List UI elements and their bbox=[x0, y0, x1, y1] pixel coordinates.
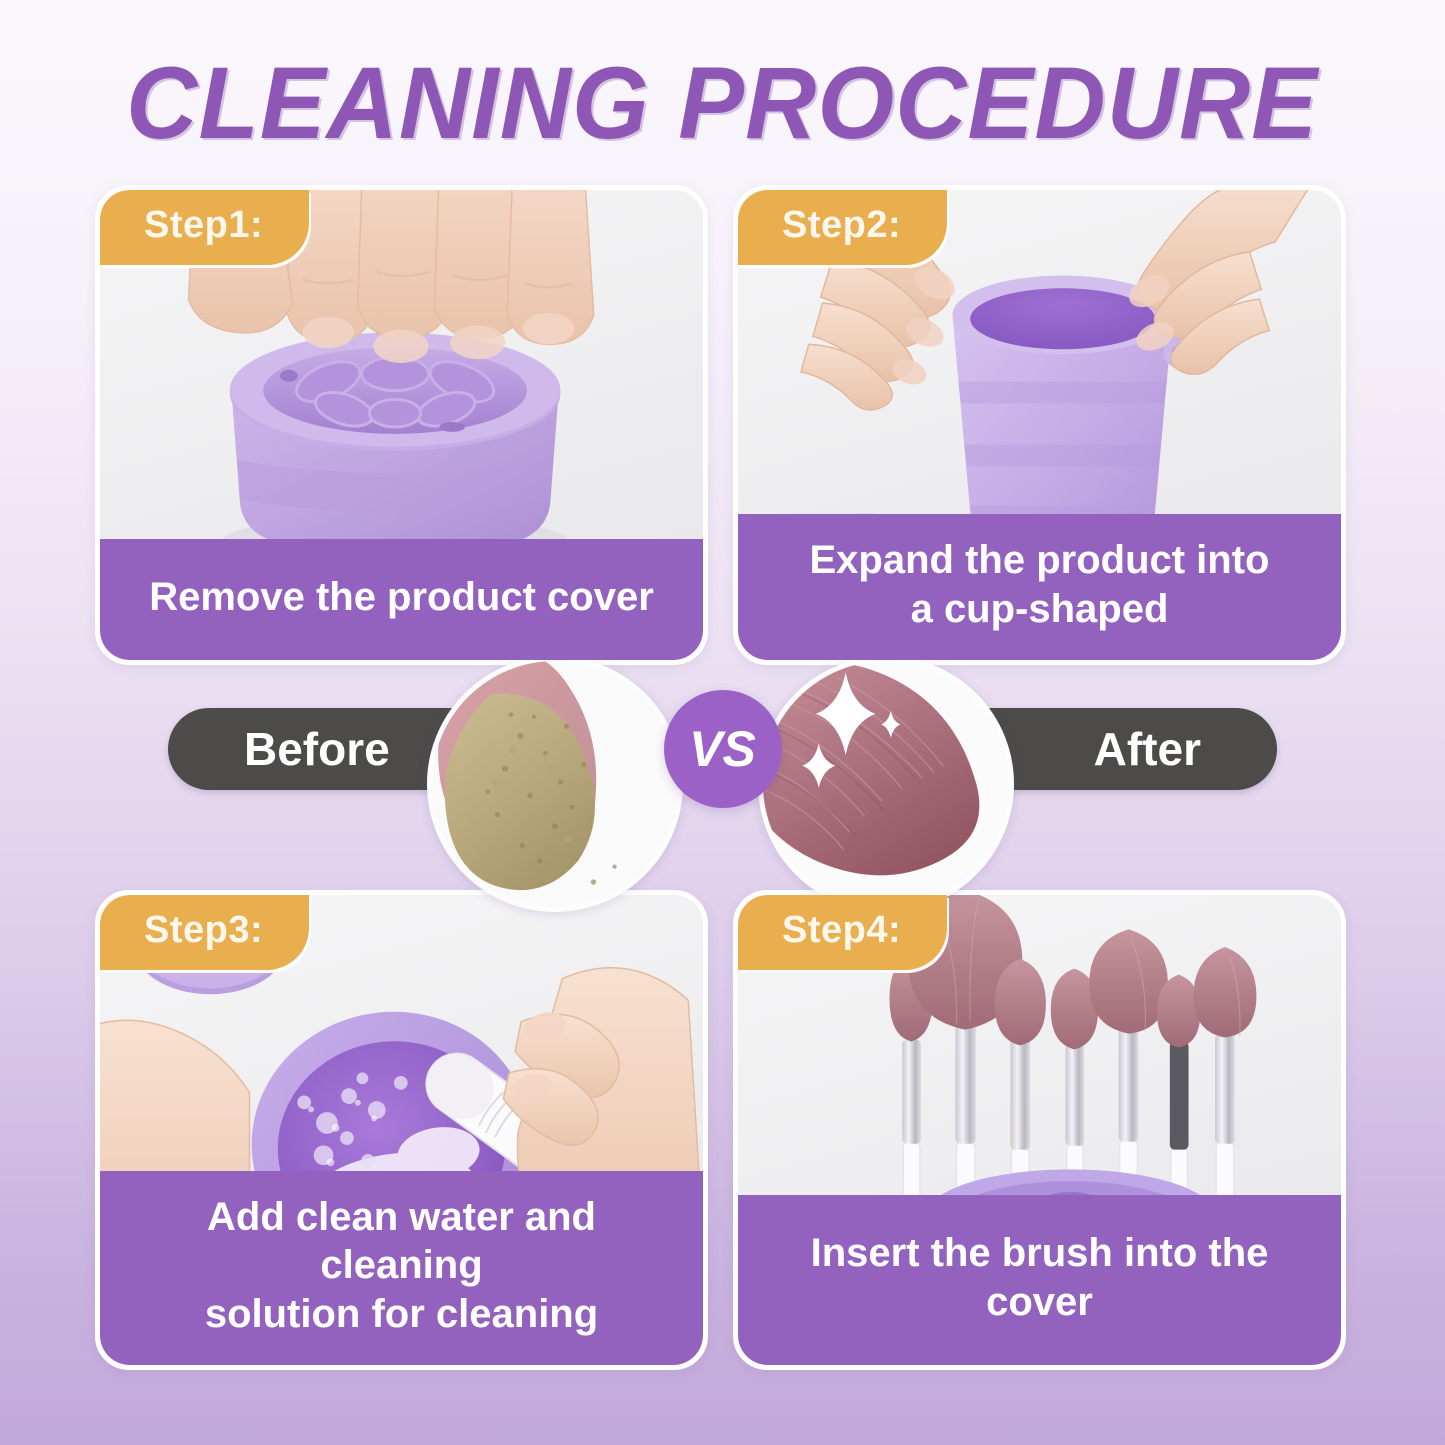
vs-label: VS bbox=[689, 720, 756, 778]
page-title: CLEANING PROCEDURE bbox=[126, 44, 1318, 162]
before-brush-image bbox=[427, 656, 683, 912]
step-1-caption: Remove the product cover bbox=[100, 539, 703, 660]
step-2-caption-line-1: Expand the product into bbox=[760, 536, 1319, 585]
page-header: CLEANING PROCEDURE bbox=[0, 52, 1445, 154]
step-3-caption: Add clean water and cleaning solution fo… bbox=[100, 1171, 703, 1365]
before-after-comparison: Before bbox=[0, 648, 1445, 888]
step-2-caption: Expand the product into a cup-shaped bbox=[738, 514, 1341, 660]
step-4-caption: Insert the brush into the cover bbox=[738, 1195, 1341, 1365]
vs-badge: VS bbox=[664, 690, 782, 808]
step-2-badge: Step2: bbox=[738, 190, 947, 265]
step-3-badge: Step3: bbox=[100, 895, 309, 970]
step-card-4: Step4: Insert the brush into the cover bbox=[733, 890, 1346, 1370]
step-card-2: Step2: Expand the product into a cup-sha… bbox=[733, 185, 1346, 665]
step-1-badge: Step1: bbox=[100, 190, 309, 265]
after-label: After bbox=[1094, 722, 1201, 776]
step-card-3: Step3: Add clean water and cleaning solu… bbox=[95, 890, 708, 1370]
step-card-1: Step1: Remove the product cover bbox=[95, 185, 708, 665]
step-4-badge: Step4: bbox=[738, 895, 947, 970]
step-3-caption-line-2: solution for cleaning bbox=[122, 1290, 681, 1339]
step-3-caption-line-1: Add clean water and cleaning bbox=[122, 1193, 681, 1291]
after-brush-image bbox=[758, 656, 1014, 912]
step-2-caption-line-2: a cup-shaped bbox=[760, 585, 1319, 634]
before-label: Before bbox=[244, 722, 390, 776]
